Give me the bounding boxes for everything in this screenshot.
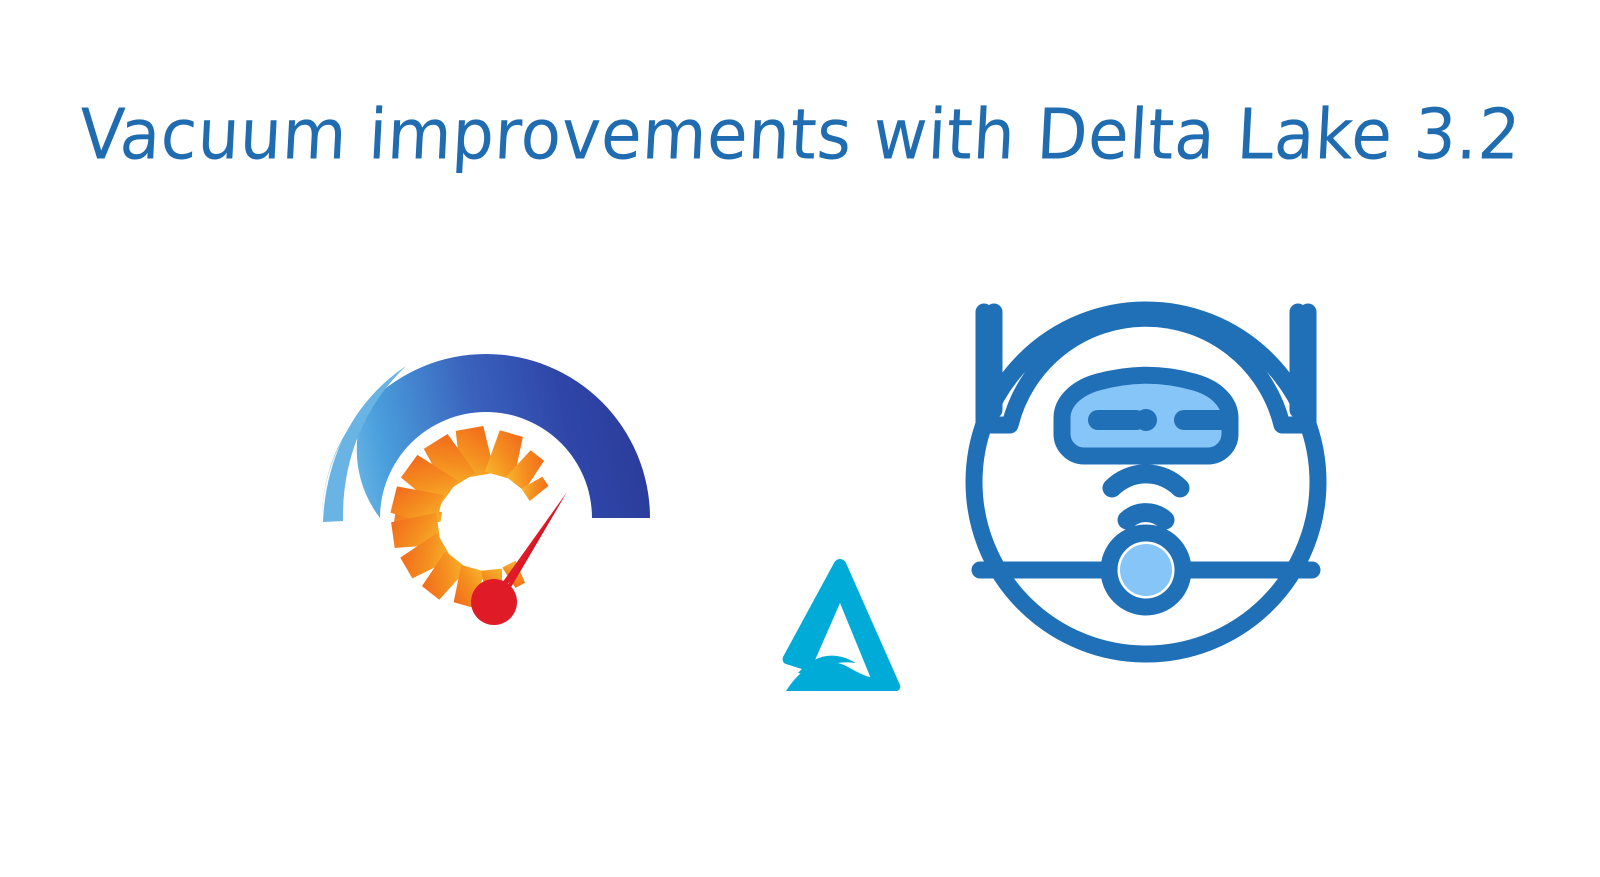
robot-control-panel bbox=[1062, 375, 1232, 456]
robot-panel-dot bbox=[1135, 409, 1157, 431]
robot-center-wheel-fill bbox=[1120, 544, 1172, 596]
robot-wifi-icon bbox=[1112, 474, 1180, 520]
graphics-row bbox=[0, 260, 1600, 730]
speedometer-gauge-icon bbox=[286, 322, 686, 722]
delta-lake-logo bbox=[760, 545, 920, 705]
gauge-tick-segments bbox=[390, 425, 550, 608]
gauge-needle bbox=[471, 492, 567, 625]
page-title: Vacuum improvements with Delta Lake 3.2 bbox=[0, 96, 1600, 174]
robot-panel-dash-right bbox=[1174, 410, 1232, 430]
slide-canvas: Vacuum improvements with Delta Lake 3.2 bbox=[0, 0, 1600, 877]
robot-vacuum-icon bbox=[936, 270, 1356, 680]
gauge-outer-arc bbox=[322, 354, 650, 518]
gauge-needle-hub bbox=[471, 579, 517, 625]
